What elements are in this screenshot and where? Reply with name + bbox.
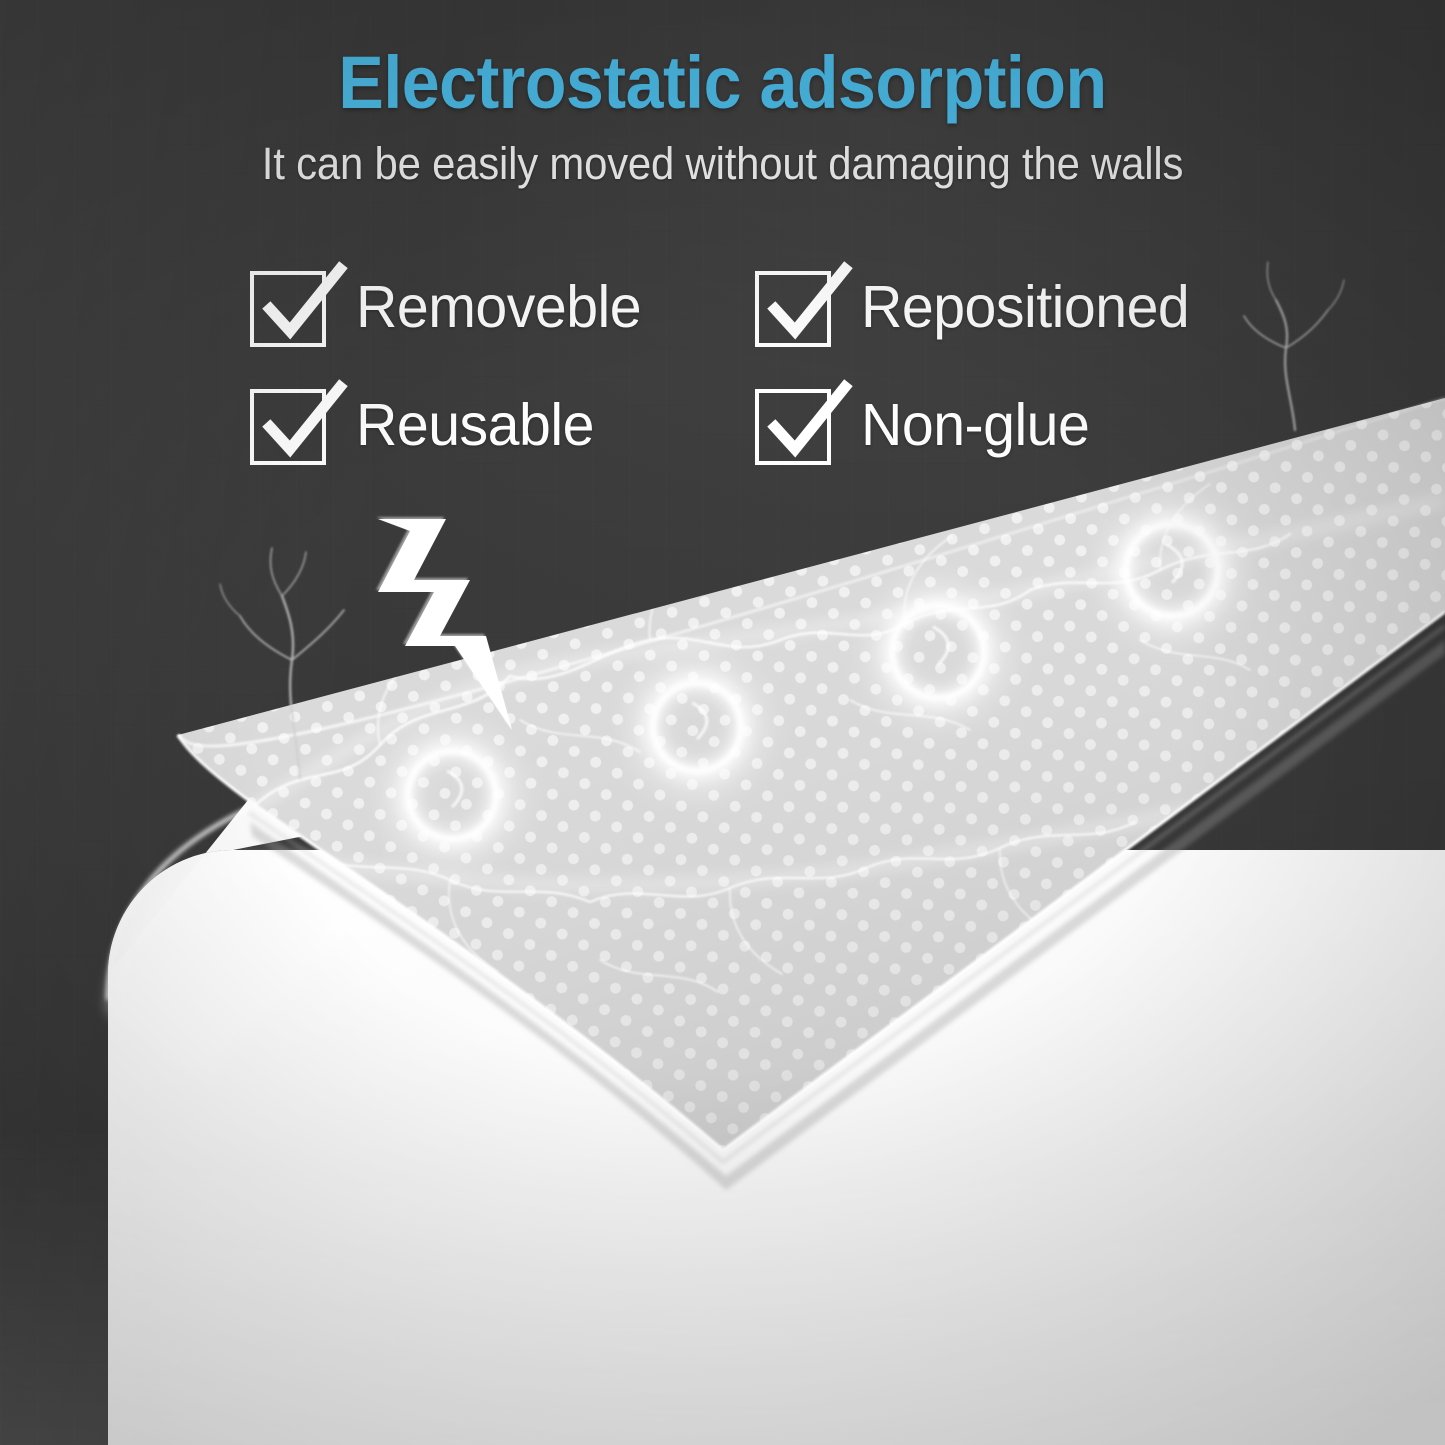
feature-item-repositioned[interactable]: Repositioned [755, 265, 1230, 349]
feature-label: Non-glue [861, 391, 1089, 459]
feature-list: Removeble Repositioned Reusable Non-glue [250, 248, 1230, 484]
checkbox-checked-icon[interactable] [250, 383, 334, 467]
checkbox-checked-icon[interactable] [250, 265, 334, 349]
checkbox-checked-icon[interactable] [755, 265, 839, 349]
feature-label: Repositioned [861, 273, 1189, 341]
page-subtitle: It can be easily moved without damaging … [51, 138, 1395, 190]
electrostatic-sheet-illustration [0, 0, 1445, 1445]
feature-label: Reusable [356, 391, 594, 459]
feature-label: Removeble [356, 273, 641, 341]
infographic-canvas: Electrostatic adsorption It can be easil… [0, 0, 1445, 1445]
feature-item-reusable[interactable]: Reusable [250, 383, 755, 467]
page-title: Electrostatic adsorption [58, 46, 1387, 120]
feature-item-removeble[interactable]: Removeble [250, 265, 755, 349]
checkbox-checked-icon[interactable] [755, 383, 839, 467]
feature-item-non-glue[interactable]: Non-glue [755, 383, 1230, 467]
